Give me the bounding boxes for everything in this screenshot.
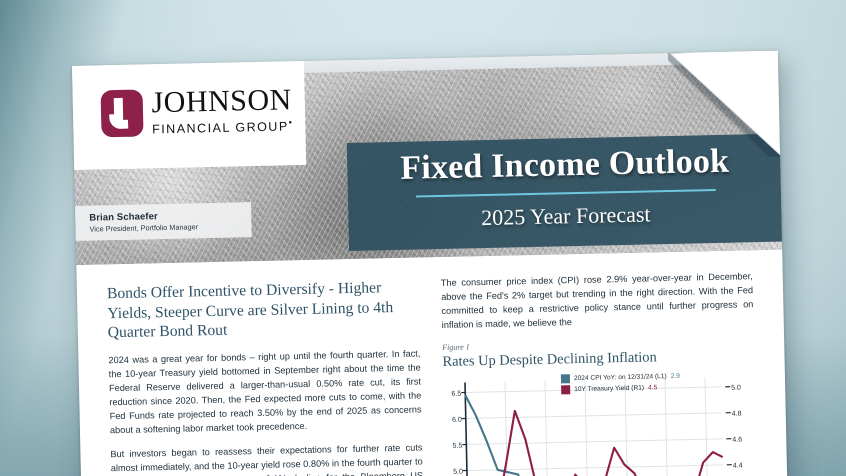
legend-swatch-treasury (561, 385, 570, 394)
legend-value-cpi: 2.9 (671, 373, 680, 380)
legend-label-treasury: 10Y Treasury Yield (R1) (574, 385, 644, 394)
legend-swatch-cpi (561, 374, 570, 383)
paragraph: 2024 was a great year for bonds – right … (108, 347, 422, 438)
legend-label-cpi: 2024 CPI YoY: on 12/31/24 (L1) (574, 373, 667, 382)
article-headline: Bonds Offer Incentive to Diversify - Hig… (107, 277, 420, 343)
svg-text:5.0: 5.0 (731, 384, 741, 391)
svg-text:4.4: 4.4 (733, 462, 743, 469)
page-fold-corner-icon (665, 51, 782, 160)
paragraph: The consumer price index (CPI) rose 2.9%… (441, 270, 754, 333)
legend-value-treasury: 4.5 (648, 384, 657, 391)
masthead-banner: JOHNSON FINANCIAL GROUP• Brian Schaefer … (72, 51, 782, 265)
document-page: JOHNSON FINANCIAL GROUP• Brian Schaefer … (72, 51, 788, 476)
brand-name: JOHNSON (151, 85, 293, 118)
chart-legend: 2024 CPI YoY: on 12/31/24 (L1) 2.9 10Y T… (561, 372, 680, 397)
legend-item: 10Y Treasury Yield (R1) 4.5 (561, 383, 680, 395)
svg-text:6.5: 6.5 (451, 391, 461, 398)
article-body: Bonds Offer Incentive to Diversify - Hig… (76, 250, 788, 476)
brand-logo-card: JOHNSON FINANCIAL GROUP• (72, 51, 306, 171)
page-subtitle: 2025 Year Forecast (348, 199, 782, 234)
brand-wordmark: JOHNSON FINANCIAL GROUP• (151, 85, 293, 136)
author-nameplate: Brian Schaefer Vice President, Portfolio… (72, 202, 252, 241)
svg-text:5.5: 5.5 (453, 443, 463, 450)
title-divider (415, 189, 715, 198)
legend-item: 2024 CPI YoY: on 12/31/24 (L1) 2.9 (561, 372, 680, 384)
johnson-j-mark-icon (100, 89, 143, 137)
chart-line-cpi (465, 389, 726, 476)
trademark-glyph: • (289, 117, 294, 127)
chart-left-tick-labels: 6.5 6.0 5.5 5.0 4.5 (451, 391, 463, 476)
screen-canvas: JOHNSON FINANCIAL GROUP• Brian Schaefer … (0, 0, 846, 476)
svg-text:5.0: 5.0 (453, 469, 463, 476)
paragraph: But investors began to reassess their ex… (110, 441, 423, 476)
right-column: The consumer price index (CPI) rose 2.9%… (441, 270, 758, 476)
rates-inflation-chart: 2024 CPI YoY: on 12/31/24 (L1) 2.9 10Y T… (443, 368, 758, 476)
chart-right-tick-labels: 5.0 4.8 4.6 4.4 4.2 (731, 384, 743, 476)
svg-text:4.6: 4.6 (732, 436, 742, 443)
svg-text:4.8: 4.8 (732, 410, 742, 417)
svg-text:6.0: 6.0 (452, 417, 462, 424)
brand-subname: FINANCIAL GROUP• (152, 118, 294, 136)
chart-right-ticks (725, 387, 732, 476)
left-column: Bonds Offer Incentive to Diversify - Hig… (107, 277, 424, 476)
